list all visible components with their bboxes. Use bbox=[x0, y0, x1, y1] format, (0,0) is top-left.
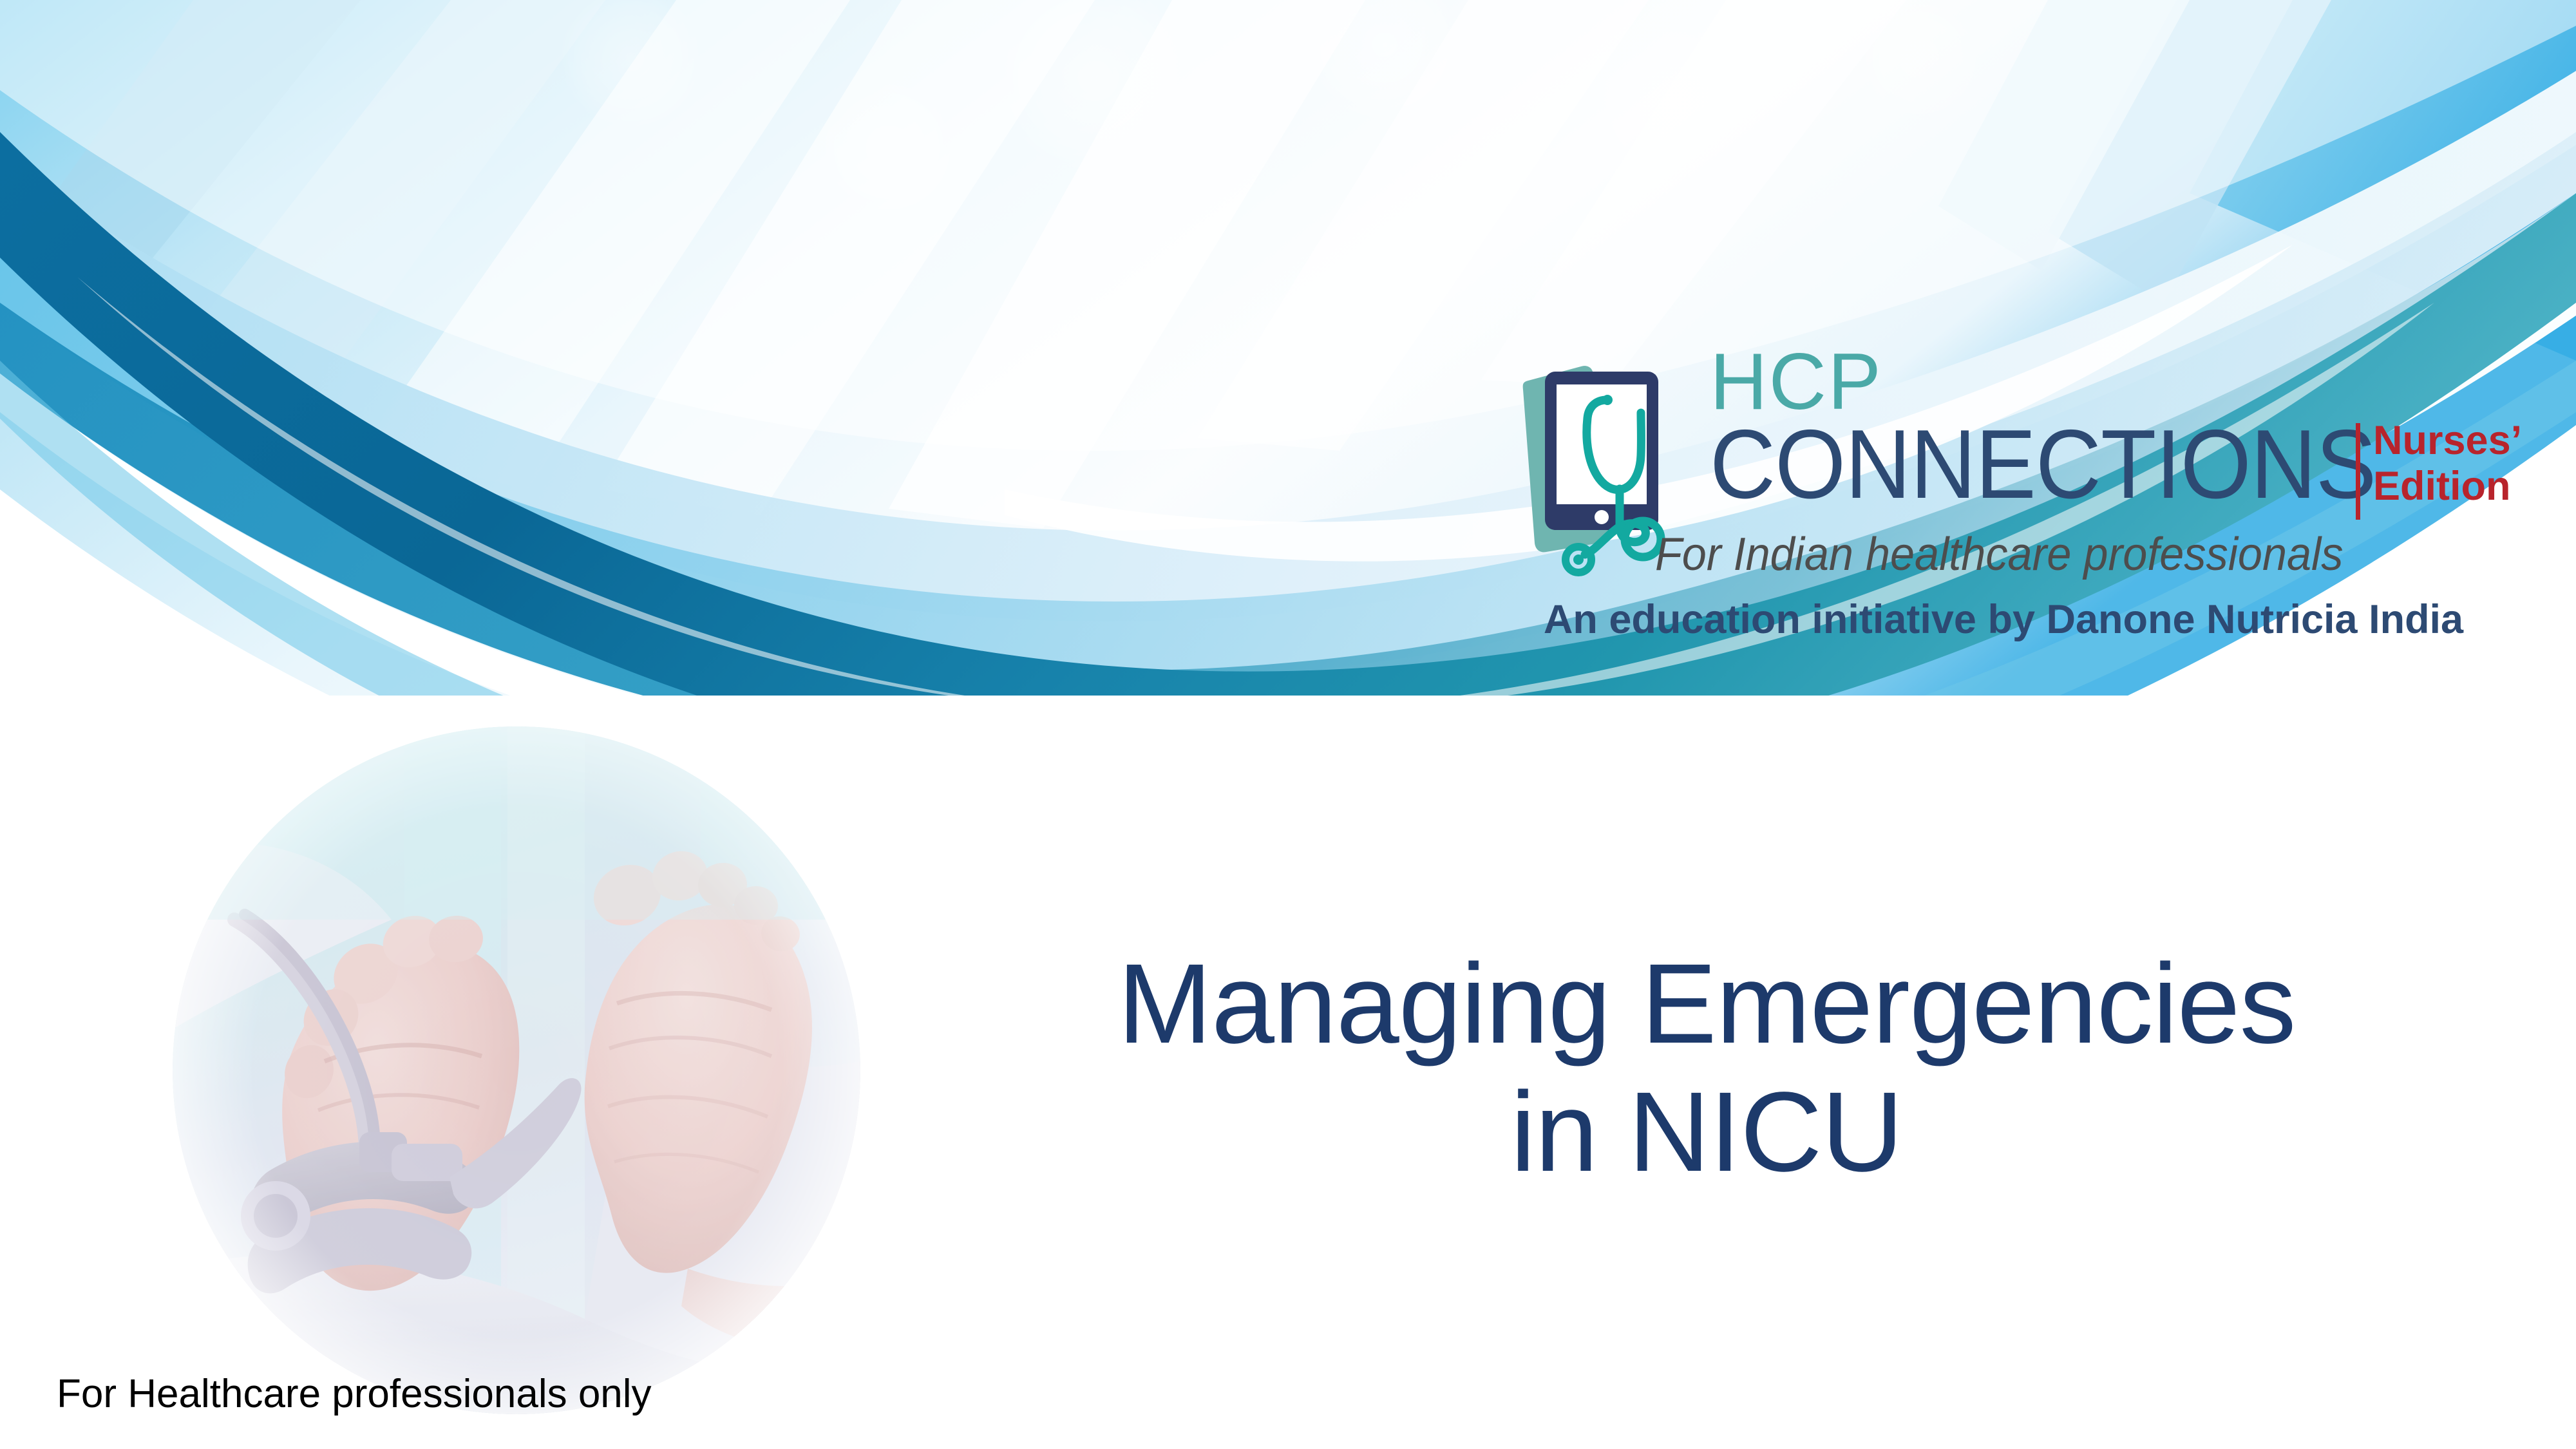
edition-line-2: Edition bbox=[2373, 464, 2510, 509]
hcp-connections-logo: HCP CONNECTIONS Nurses’ Edition For Indi… bbox=[1517, 351, 2495, 654]
brand-name-connections: CONNECTIONS bbox=[1710, 415, 2376, 513]
logo-tagline: For Indian healthcare professionals bbox=[1655, 531, 2343, 578]
edition-line-1: Nurses’ bbox=[2373, 418, 2522, 463]
page-title: Managing Emergencies in NICU bbox=[1005, 940, 2409, 1197]
title-line-1: Managing Emergencies bbox=[1005, 940, 2409, 1068]
disclaimer-text: For Healthcare professionals only bbox=[57, 1374, 652, 1414]
edition-badge: Nurses’ Edition bbox=[2373, 418, 2522, 509]
logo-initiative-line: An education initiative by Danone Nutric… bbox=[1514, 600, 2493, 640]
title-line-2: in NICU bbox=[1005, 1068, 2409, 1197]
edition-divider bbox=[2356, 423, 2360, 520]
newborn-feet-pulse-oximeter-photo bbox=[173, 726, 860, 1414]
title-slide: HCP CONNECTIONS Nurses’ Edition For Indi… bbox=[0, 0, 2576, 1449]
